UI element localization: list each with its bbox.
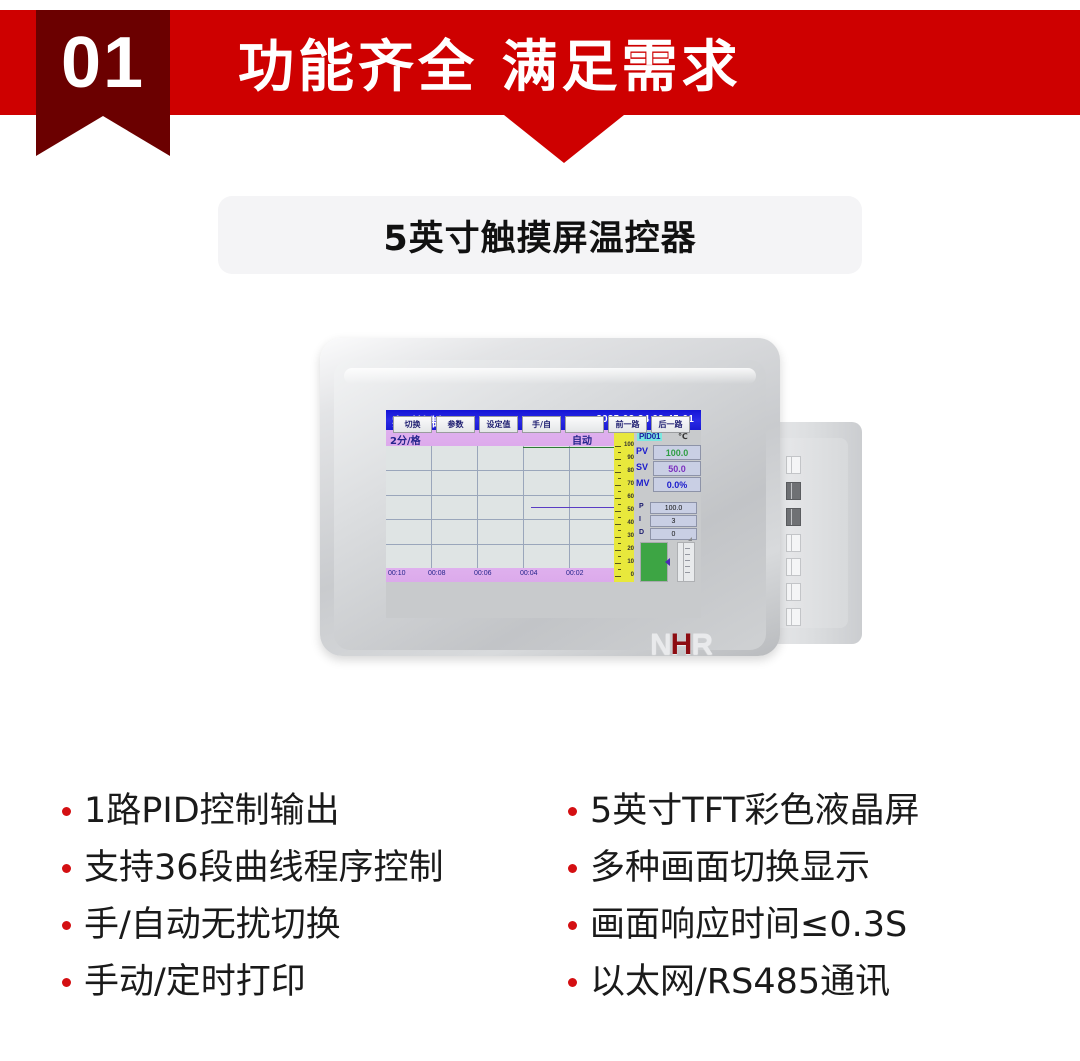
screen-button-next-channel[interactable]: 后一路 <box>651 416 690 433</box>
mv-label: MV <box>636 478 650 488</box>
sv-value: 50.0 <box>668 464 686 474</box>
feature-text: 以太网/RS485通讯 <box>590 959 890 1005</box>
i-label: I <box>639 516 641 523</box>
pv-value-box[interactable]: 100.0 <box>653 445 701 460</box>
bullet-dot-icon <box>568 978 577 987</box>
time-tick: 00:04 <box>520 570 538 577</box>
sv-label: SV <box>636 462 648 472</box>
time-tick: 00:06 <box>474 570 492 577</box>
feature-text: 1路PID控制输出 <box>84 788 340 834</box>
vent-slot <box>786 508 801 526</box>
screen-button-manual-auto[interactable]: 手/自 <box>522 416 561 433</box>
feature-item: 画面响应时间≤0.3S <box>568 902 1048 948</box>
y-tick: 70 <box>627 481 634 487</box>
feature-item: 手/自动无扰切换 <box>62 902 542 948</box>
header-banner: 01 功能齐全 满足需求 <box>0 0 1080 170</box>
bullet-dot-icon <box>568 921 577 930</box>
feature-item: 1路PID控制输出 <box>62 788 542 834</box>
y-tick: 40 <box>627 520 634 526</box>
section-number: 01 <box>36 10 170 115</box>
bullet-dot-icon <box>62 978 71 987</box>
mv-bar-fill <box>641 543 667 581</box>
p-value: 100.0 <box>665 505 683 512</box>
button-label: 参数 <box>448 419 464 430</box>
brand-letter-r: R <box>691 628 712 661</box>
vent-slot <box>786 456 801 474</box>
bullet-dot-icon <box>62 921 71 930</box>
p-label: P <box>639 503 644 510</box>
trend-plot <box>386 446 614 568</box>
bullet-dot-icon <box>62 864 71 873</box>
i-param-row: I 3 <box>639 515 697 526</box>
vent-slot <box>786 482 801 500</box>
time-tick: 00:08 <box>428 570 446 577</box>
vent-slot <box>786 583 801 601</box>
i-value-box[interactable]: 3 <box>650 515 697 527</box>
brand-letter-h: H <box>671 628 692 661</box>
feature-item: 以太网/RS485通讯 <box>568 959 1048 1005</box>
button-label: 切换 <box>405 419 421 430</box>
product-name: 5英寸触摸屏温控器 <box>383 210 696 261</box>
pv-value: 100.0 <box>666 448 689 458</box>
bullet-dot-icon <box>568 864 577 873</box>
button-label: 后一路 <box>659 419 683 430</box>
time-tick: 00:10 <box>388 570 406 577</box>
button-label: 前一路 <box>616 419 640 430</box>
vent-slot <box>786 608 801 626</box>
feature-item: 手动/定时打印 <box>62 959 542 1005</box>
y-tick: 60 <box>627 494 634 500</box>
vent-slot <box>786 534 801 552</box>
y-tick: 100 <box>624 442 634 448</box>
time-scale-label: 2分/格 <box>390 432 421 447</box>
pid-panel[interactable]: PID01 ℃ PV 100.0 SV 50.0 MV <box>634 430 701 582</box>
bullet-dot-icon <box>62 807 71 816</box>
temperature-unit: ℃ <box>678 432 688 441</box>
mv-row: MV 0.0% <box>636 477 699 491</box>
mv-value-box[interactable]: 0.0% <box>653 477 701 492</box>
bullet-dot-icon <box>568 807 577 816</box>
feature-text: 画面响应时间≤0.3S <box>590 902 907 948</box>
section-title: 功能齐全 满足需求 <box>238 10 742 115</box>
screen-button-bar <box>386 582 701 618</box>
device-bezel: 实时控制 2025-02-24 09:45:01 2分/格 自动 0 <box>320 338 780 656</box>
feature-item: 多种画面切换显示 <box>568 845 1048 891</box>
feature-column-left: 1路PID控制输出 支持36段曲线程序控制 手/自动无扰切换 手动/定时打印 <box>62 788 542 1016</box>
device-screen[interactable]: 实时控制 2025-02-24 09:45:01 2分/格 自动 0 <box>386 410 701 618</box>
device-rear-panel <box>770 438 848 628</box>
feature-item: 支持36段曲线程序控制 <box>62 845 542 891</box>
d-label: D <box>639 529 644 536</box>
feature-column-right: 5英寸TFT彩色液晶屏 多种画面切换显示 画面响应时间≤0.3S 以太网/RS4… <box>568 788 1048 1016</box>
sv-value-box[interactable]: 50.0 <box>653 461 701 476</box>
product-name-pill: 5英寸触摸屏温控器 <box>218 196 862 274</box>
y-tick: 90 <box>627 455 634 461</box>
feature-text: 手/自动无扰切换 <box>84 902 341 948</box>
i-value: 3 <box>672 518 676 525</box>
y-tick: 80 <box>627 468 634 474</box>
d-value: 0 <box>672 531 676 538</box>
y-tick: 30 <box>627 533 634 539</box>
device-image: 实时控制 2025-02-24 09:45:01 2分/格 自动 0 <box>300 330 840 730</box>
bezel-highlight <box>344 368 756 384</box>
mv-bar-graph <box>640 542 668 582</box>
y-tick: 50 <box>627 507 634 513</box>
scale-arrow-icon <box>688 537 692 541</box>
screen-button-switch[interactable]: 切换 <box>393 416 432 433</box>
time-tick: 00:02 <box>566 570 584 577</box>
sv-row: SV 50.0 <box>636 461 699 475</box>
brand-letter-n: N <box>650 628 671 661</box>
feature-text: 手动/定时打印 <box>84 959 306 1005</box>
screen-button-prev-channel[interactable]: 前一路 <box>608 416 647 433</box>
feature-text: 多种画面切换显示 <box>590 845 870 891</box>
pv-row: PV 100.0 <box>636 445 699 459</box>
mv-setpoint-marker-icon <box>665 558 670 566</box>
brand-logo: NHR <box>650 628 712 662</box>
vent-slot <box>786 558 801 576</box>
y-axis-strip: 100 90 80 70 60 50 40 30 20 10 0 <box>614 430 634 582</box>
ribbon-notch <box>36 116 170 156</box>
feature-text: 支持36段曲线程序控制 <box>84 845 444 891</box>
screen-button-params[interactable]: 参数 <box>436 416 475 433</box>
y-tick: 10 <box>627 559 634 565</box>
button-label: 设定值 <box>487 419 511 430</box>
feature-lists: 1路PID控制输出 支持36段曲线程序控制 手/自动无扰切换 手动/定时打印 5… <box>0 788 1080 1038</box>
screen-button-blank-1[interactable] <box>565 416 604 433</box>
p-value-box[interactable]: 100.0 <box>650 502 697 514</box>
pv-label: PV <box>636 446 648 456</box>
p-param-row: P 100.0 <box>639 502 697 513</box>
button-label: 手/自 <box>532 419 551 430</box>
mv-value: 0.0% <box>667 480 688 490</box>
sv-trace <box>531 507 614 508</box>
pid-channel-tag: PID01 <box>637 432 662 441</box>
feature-item: 5英寸TFT彩色液晶屏 <box>568 788 1048 834</box>
y-tick: 20 <box>627 546 634 552</box>
mv-scale-bar <box>677 542 695 582</box>
control-mode-label: 自动 <box>572 432 592 447</box>
screen-button-setpoint[interactable]: 设定值 <box>479 416 518 433</box>
feature-text: 5英寸TFT彩色液晶屏 <box>590 788 920 834</box>
pv-trace <box>523 447 614 448</box>
